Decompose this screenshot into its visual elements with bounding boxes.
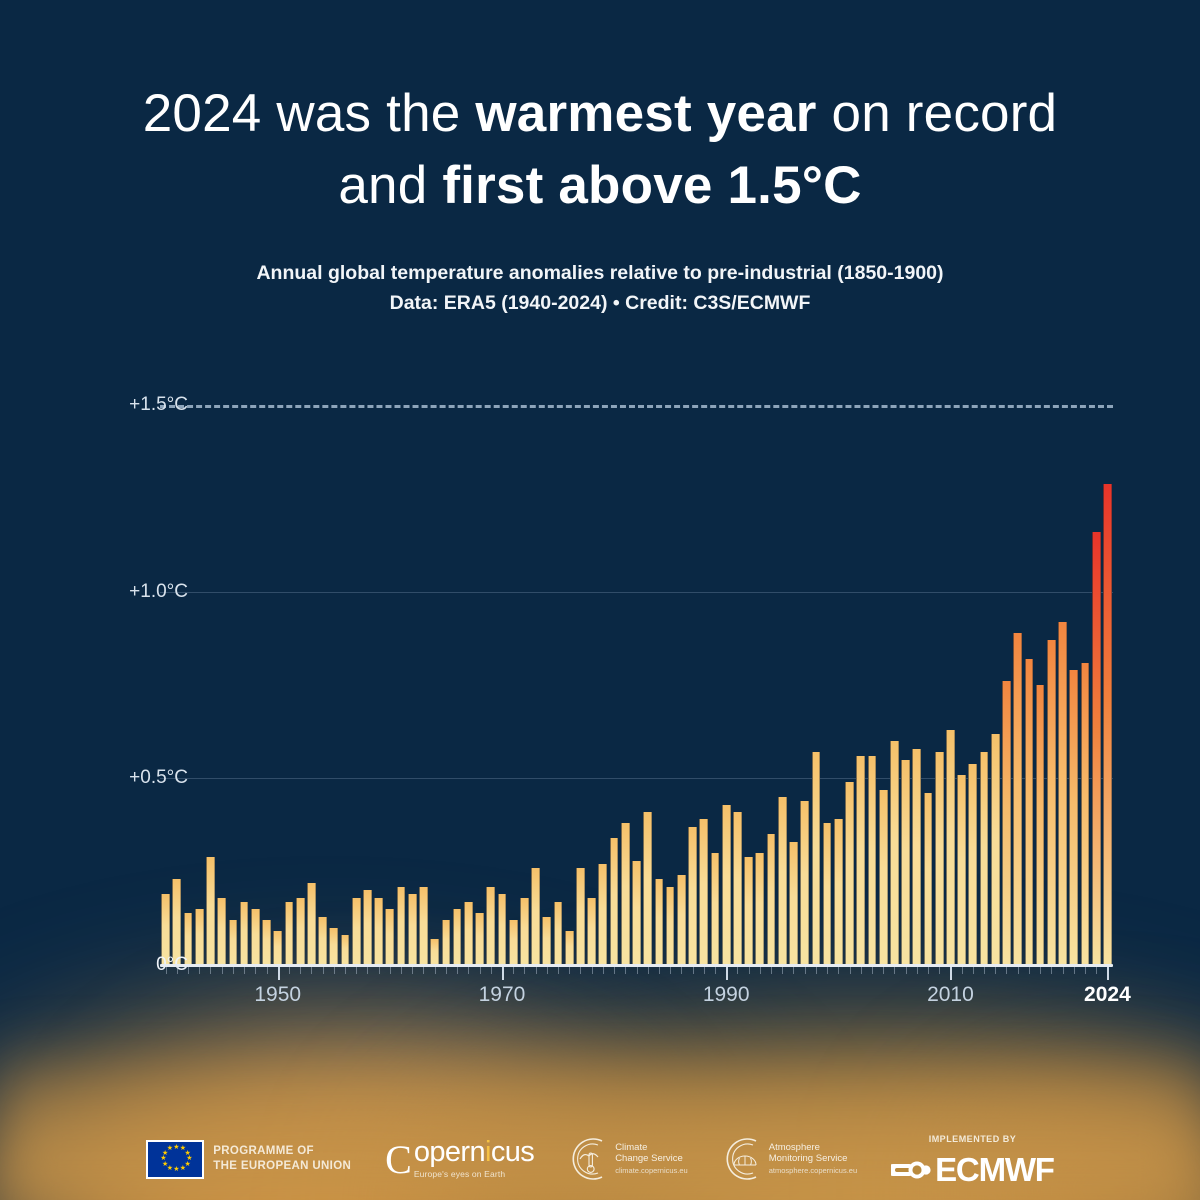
x-axis-label-1950: 1950 (254, 983, 301, 1007)
copernicus-tagline: Europe's eyes on Earth (414, 1169, 534, 1179)
bar-2000 (834, 819, 843, 965)
bar-2009 (935, 752, 944, 965)
bar-1958 (363, 890, 372, 965)
eu-star-icon: ★ (167, 1147, 171, 1151)
x-tick-minor-1966 (457, 967, 458, 974)
x-tick-minor-2008 (928, 967, 929, 974)
bar-1981 (621, 823, 630, 965)
bar-1999 (823, 823, 832, 965)
x-tick-minor-1993 (760, 967, 761, 974)
bar-2008 (924, 793, 933, 965)
bar-1988 (699, 819, 708, 965)
x-tick-minor-1957 (356, 967, 357, 974)
bar-1977 (576, 868, 585, 965)
eu-logo-text: PROGRAMME OF THE EUROPEAN UNION (213, 1144, 351, 1175)
x-tick-minor-1969 (491, 967, 492, 974)
x-tick-minor-1974 (547, 967, 548, 974)
x-tick-major-2024 (1107, 967, 1109, 980)
bar-1976 (565, 931, 574, 965)
atmosphere-monitoring-service-logo: Atmosphere Monitoring Service atmosphere… (722, 1137, 857, 1181)
bar-2002 (856, 756, 865, 965)
bar-1987 (688, 827, 697, 965)
bar-1960 (385, 909, 394, 965)
copernicus-word: opernicus (414, 1139, 534, 1167)
x-tick-minor-1998 (816, 967, 817, 974)
bar-1962 (408, 894, 417, 965)
x-axis-label-2024: 2024 (1084, 983, 1131, 1007)
bar-1989 (711, 853, 720, 965)
x-tick-minor-2005 (894, 967, 895, 974)
ecmwf-wordmark: ECMWF (891, 1155, 1054, 1185)
eu-logo: ★★★★★★★★★★★★ PROGRAMME OF THE EUROPEAN U… (146, 1140, 351, 1179)
x-tick-minor-1961 (401, 967, 402, 974)
bar-1965 (442, 920, 451, 965)
bar-1963 (419, 887, 428, 965)
ecmwf-mark-icon (891, 1155, 931, 1185)
bar-1952 (296, 898, 305, 965)
bar-1948 (251, 909, 260, 965)
x-tick-minor-2021 (1074, 967, 1075, 974)
x-tick-minor-1964 (435, 967, 436, 974)
x-tick-minor-1988 (704, 967, 705, 974)
bar-1950 (273, 931, 282, 965)
x-axis-label-2010: 2010 (927, 983, 974, 1007)
x-tick-minor-2001 (850, 967, 851, 974)
x-tick-minor-1973 (536, 967, 537, 974)
bar-1959 (374, 898, 383, 965)
eu-star-icon: ★ (173, 1168, 177, 1172)
x-tick-minor-1999 (827, 967, 828, 974)
x-axis-label-1990: 1990 (703, 983, 750, 1007)
x-tick-minor-2014 (995, 967, 996, 974)
bar-2015 (1002, 681, 1011, 965)
copernicus-word-b: cus (491, 1136, 534, 1168)
x-tick-minor-2006 (906, 967, 907, 974)
climate-thermometer-icon (568, 1137, 608, 1181)
x-tick-minor-1989 (715, 967, 716, 974)
x-tick-minor-1956 (345, 967, 346, 974)
bar-1946 (229, 920, 238, 965)
eu-star-icon: ★ (180, 1167, 184, 1171)
bar-2020 (1058, 622, 1067, 965)
bar-1975 (554, 902, 563, 965)
x-tick-minor-1984 (659, 967, 660, 974)
x-tick-minor-1968 (480, 967, 481, 974)
climate-service-text: Climate Change Service climate.copernicu… (615, 1142, 688, 1176)
copernicus-logo: C opernicus Europe's eyes on Earth (385, 1139, 534, 1179)
y-axis-label-05C: +0.5°C (129, 767, 188, 789)
x-tick-minor-1977 (580, 967, 581, 974)
bar-1953 (307, 883, 316, 965)
eu-star-icon: ★ (162, 1152, 166, 1156)
x-tick-minor-2007 (917, 967, 918, 974)
bar-2023 (1092, 532, 1101, 965)
eu-star-icon: ★ (162, 1163, 166, 1167)
ecmwf-implemented-by-label: IMPLEMENTED BY (929, 1134, 1017, 1144)
climate-service-line-2: Change Service (615, 1153, 688, 1164)
x-tick-minor-2003 (872, 967, 873, 974)
x-tick-major-1990 (726, 967, 728, 980)
x-tick-minor-2023 (1096, 967, 1097, 974)
bar-1996 (789, 842, 798, 965)
bar-1973 (531, 868, 540, 965)
x-tick-minor-1949 (267, 967, 268, 974)
bar-1941 (172, 879, 181, 965)
bar-2018 (1036, 685, 1045, 965)
temperature-anomaly-chart: 0°C+0.5°C+1.0°C+1.5°C 195019701990201020… (0, 0, 1200, 1200)
climate-change-service-logo: Climate Change Service climate.copernicu… (568, 1137, 688, 1181)
x-tick-minor-2002 (861, 967, 862, 974)
x-tick-minor-1962 (412, 967, 413, 974)
bar-1990 (722, 805, 731, 965)
x-tick-minor-1996 (793, 967, 794, 974)
x-tick-minor-1972 (524, 967, 525, 974)
bar-1985 (666, 887, 675, 965)
atmosphere-service-text: Atmosphere Monitoring Service atmosphere… (769, 1142, 857, 1176)
bar-2022 (1081, 663, 1090, 965)
bar-2001 (845, 782, 854, 965)
bar-1994 (767, 834, 776, 965)
bar-1978 (587, 898, 596, 965)
eu-logo-line-1: PROGRAMME OF (213, 1144, 351, 1159)
bar-2006 (901, 760, 910, 965)
ecmwf-name: ECMWF (935, 1155, 1054, 1185)
bar-2024 (1103, 484, 1112, 965)
plot-area (160, 368, 1113, 965)
x-tick-minor-1982 (637, 967, 638, 974)
x-tick-minor-1967 (468, 967, 469, 974)
x-tick-minor-1951 (289, 967, 290, 974)
bar-1991 (733, 812, 742, 965)
x-tick-minor-1952 (300, 967, 301, 974)
bar-2007 (912, 749, 921, 965)
bar-2021 (1069, 670, 1078, 965)
bar-2017 (1025, 659, 1034, 965)
x-tick-minor-2011 (962, 967, 963, 974)
bar-1947 (240, 902, 249, 965)
x-tick-minor-2009 (939, 967, 940, 974)
bar-2013 (980, 752, 989, 965)
bar-1983 (643, 812, 652, 965)
x-tick-minor-1979 (603, 967, 604, 974)
bar-1984 (655, 879, 664, 965)
bar-1974 (542, 917, 551, 966)
x-tick-minor-1987 (693, 967, 694, 974)
eu-logo-line-2: THE EUROPEAN UNION (213, 1159, 351, 1174)
x-tick-minor-1942 (188, 967, 189, 974)
atmosphere-service-url[interactable]: atmosphere.copernicus.eu (769, 1167, 857, 1176)
bar-1980 (610, 838, 619, 965)
x-tick-minor-2019 (1051, 967, 1052, 974)
bar-1966 (453, 909, 462, 965)
copernicus-word-a: opern (414, 1136, 485, 1168)
bar-1982 (632, 861, 641, 965)
x-tick-minor-1994 (771, 967, 772, 974)
x-tick-major-2010 (950, 967, 952, 980)
bar-1957 (352, 898, 361, 965)
climate-service-url[interactable]: climate.copernicus.eu (615, 1167, 688, 1176)
bar-1968 (475, 913, 484, 965)
x-tick-minor-2017 (1029, 967, 1030, 974)
x-tick-minor-2004 (883, 967, 884, 974)
x-tick-minor-1963 (423, 967, 424, 974)
bar-2011 (957, 775, 966, 965)
y-axis-label-10C: +1.0°C (129, 581, 188, 603)
bar-1998 (812, 752, 821, 965)
x-tick-minor-1959 (379, 967, 380, 974)
x-tick-minor-1991 (737, 967, 738, 974)
x-tick-minor-1947 (244, 967, 245, 974)
bar-2003 (868, 756, 877, 965)
bar-1992 (744, 857, 753, 965)
eu-star-icon: ★ (180, 1147, 184, 1151)
bar-1964 (430, 939, 439, 965)
bar-1961 (397, 887, 406, 965)
x-tick-minor-1943 (199, 967, 200, 974)
x-tick-minor-1981 (625, 967, 626, 974)
atmosphere-service-line-1: Atmosphere (769, 1142, 857, 1153)
x-tick-minor-1983 (648, 967, 649, 974)
bar-1945 (217, 898, 226, 965)
x-tick-major-1950 (278, 967, 280, 980)
bar-1986 (677, 875, 686, 965)
bar-2005 (890, 741, 899, 965)
x-tick-minor-1980 (614, 967, 615, 974)
bar-1970 (498, 894, 507, 965)
x-tick-minor-1997 (805, 967, 806, 974)
x-tick-minor-1945 (222, 967, 223, 974)
bar-2014 (991, 734, 1000, 965)
x-tick-minor-2015 (1006, 967, 1007, 974)
bar-1956 (341, 935, 350, 965)
x-tick-minor-1992 (749, 967, 750, 974)
x-tick-minor-2000 (838, 967, 839, 974)
bar-1971 (509, 920, 518, 965)
bar-2016 (1013, 633, 1022, 965)
bar-1967 (464, 902, 473, 965)
x-tick-major-1970 (502, 967, 504, 980)
bar-1943 (195, 909, 204, 965)
x-tick-minor-2016 (1018, 967, 1019, 974)
bar-1954 (318, 917, 327, 966)
x-tick-minor-1965 (446, 967, 447, 974)
bar-2019 (1047, 640, 1056, 965)
x-tick-minor-1960 (390, 967, 391, 974)
x-tick-minor-1986 (681, 967, 682, 974)
bar-1951 (285, 902, 294, 965)
bar-1979 (598, 864, 607, 965)
x-tick-minor-1941 (177, 967, 178, 974)
x-tick-minor-1948 (255, 967, 256, 974)
x-tick-minor-1946 (233, 967, 234, 974)
bar-2010 (946, 730, 955, 965)
x-tick-minor-1978 (592, 967, 593, 974)
copernicus-wordmark: opernicus Europe's eyes on Earth (414, 1139, 534, 1179)
x-axis-label-1970: 1970 (479, 983, 526, 1007)
climate-service-line-1: Climate (615, 1142, 688, 1153)
bar-1969 (486, 887, 495, 965)
x-tick-minor-2020 (1063, 967, 1064, 974)
bar-1955 (329, 928, 338, 965)
bar-2004 (879, 790, 888, 965)
bar-1993 (755, 853, 764, 965)
eu-star-icon: ★ (173, 1146, 177, 1150)
bar-1949 (262, 920, 271, 965)
infographic-canvas: 2024 was the warmest year on record and … (0, 0, 1200, 1200)
x-tick-minor-1953 (311, 967, 312, 974)
x-tick-minor-1976 (569, 967, 570, 974)
atmosphere-service-line-2: Monitoring Service (769, 1153, 857, 1164)
copernicus-c-icon: C (385, 1142, 412, 1179)
footer-logos: ★★★★★★★★★★★★ PROGRAMME OF THE EUROPEAN U… (0, 1118, 1200, 1200)
bar-1995 (778, 797, 787, 965)
x-tick-minor-1954 (323, 967, 324, 974)
bar-1972 (520, 898, 529, 965)
x-tick-minor-1944 (210, 967, 211, 974)
x-tick-minor-1971 (513, 967, 514, 974)
x-tick-minor-2018 (1040, 967, 1041, 974)
x-tick-minor-1985 (670, 967, 671, 974)
x-tick-minor-1955 (334, 967, 335, 974)
x-tick-minor-2012 (973, 967, 974, 974)
x-tick-minor-1975 (558, 967, 559, 974)
atmosphere-globe-icon (722, 1137, 762, 1181)
bar-series (160, 368, 1113, 965)
bar-2012 (968, 764, 977, 965)
x-tick-minor-2013 (984, 967, 985, 974)
bar-1997 (800, 801, 809, 965)
x-tick-minor-1958 (367, 967, 368, 974)
x-tick-minor-1940 (166, 967, 167, 974)
y-axis-label-15C: +1.5°C (129, 394, 188, 416)
eu-star-icon: ★ (160, 1157, 164, 1161)
ecmwf-logo: IMPLEMENTED BY ECMWF (891, 1134, 1054, 1185)
eu-flag-icon: ★★★★★★★★★★★★ (146, 1140, 204, 1179)
x-tick-minor-2022 (1085, 967, 1086, 974)
bar-1944 (206, 857, 215, 965)
x-tick-minor-1995 (782, 967, 783, 974)
